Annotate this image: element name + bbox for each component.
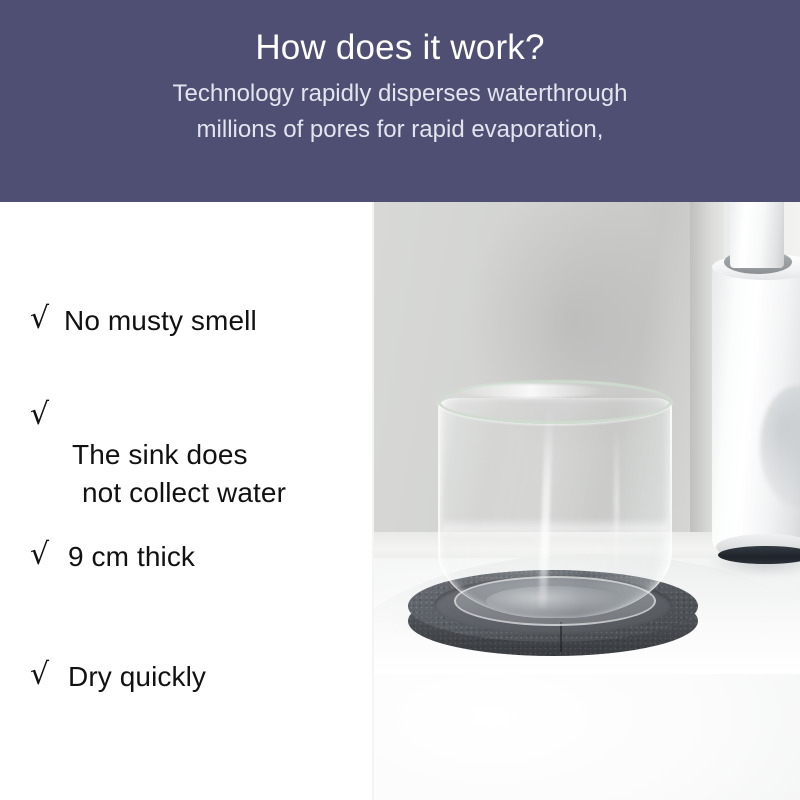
check-icon: √ [30,398,64,432]
infographic-page: How does it work? Technology rapidly dis… [0,0,800,800]
list-item: √ Dry quickly [30,658,372,696]
list-item: √ No musty smell [30,302,372,340]
cup-highlight-streak-2 [614,428,619,578]
check-icon: √ [30,302,64,336]
feature-label-line-2: not collect water [72,474,286,512]
feature-label-line-1: The sink does [72,439,248,470]
list-item: √ The sink does not collect water [30,398,372,550]
feature-label: Dry quickly [64,658,206,696]
cup-base-inner [486,586,622,616]
cup-rim-highlight [456,384,606,398]
feature-panel: √ No musty smell √ The sink does not col… [0,202,372,800]
check-icon: √ [30,658,64,692]
feature-label: The sink does not collect water [64,398,286,550]
page-subtitle-line-2: millions of pores for rapid evaporation, [173,112,628,148]
faucet-spout [730,202,784,268]
header-band: How does it work? Technology rapidly dis… [0,0,800,202]
product-photo [372,202,800,800]
feature-label: 9 cm thick [64,538,195,576]
page-subtitle-line-1: Technology rapidly disperses waterthroug… [173,76,628,112]
photo-left-seam [372,202,374,800]
cup-highlight-band [442,518,668,540]
feature-list: √ No musty smell √ The sink does not col… [0,202,372,800]
faucet [712,202,800,598]
list-item: √ 9 cm thick [30,538,372,576]
page-title: How does it work? [255,26,544,70]
glass-cup [438,380,672,630]
feature-label: No musty smell [64,302,257,340]
page-subtitle: Technology rapidly disperses waterthroug… [173,76,628,148]
check-icon: √ [30,538,64,572]
